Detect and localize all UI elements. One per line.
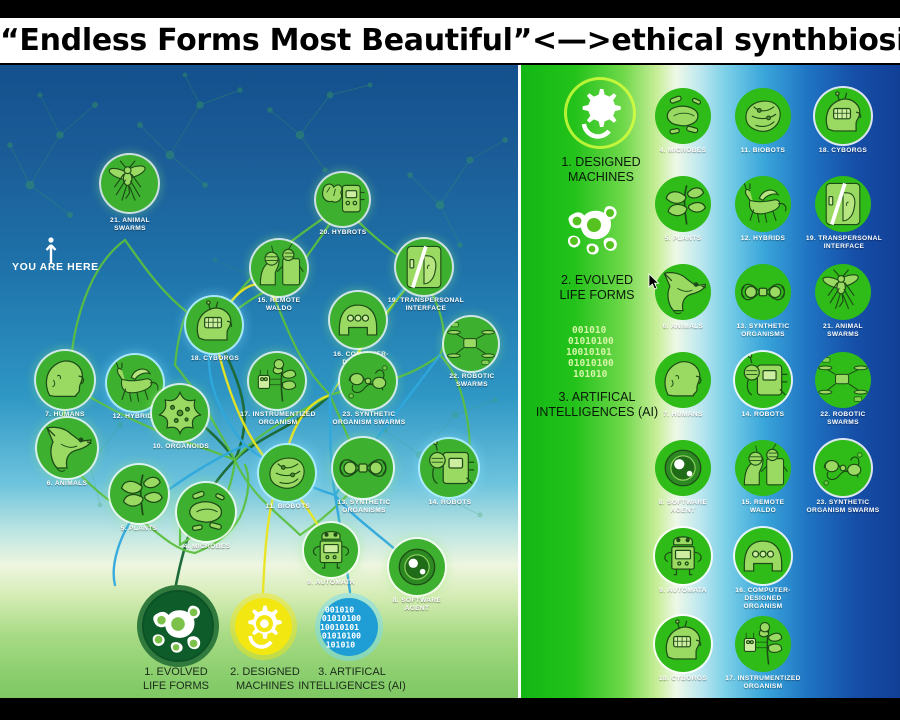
you-are-here-label: YOU ARE HERE (12, 261, 99, 273)
node-icon-circle (735, 88, 791, 144)
software-agent-icon (655, 440, 711, 496)
svg-text:01010100: 01010100 (568, 358, 614, 369)
node-icon-circle (251, 240, 307, 296)
biobot-icon (735, 88, 791, 144)
node-icon-circle (36, 351, 94, 409)
node-label: 5. PLANTS (649, 235, 717, 243)
synthetic-swarm-icon (815, 440, 871, 496)
node-icon-circle (655, 616, 711, 672)
node-icon-circle (815, 88, 871, 144)
svg-text:001010: 001010 (572, 325, 607, 336)
cyborg-head-icon (655, 616, 711, 672)
remote-waldo-icon (251, 240, 307, 296)
node-icon-circle (420, 439, 478, 497)
node-icon-circle (177, 483, 235, 541)
node-label: 6. ANIMALS (36, 480, 98, 488)
robot-icon (735, 352, 791, 408)
node-icon-circle (655, 352, 711, 408)
category-icon-circle (559, 192, 629, 262)
node-icon-circle (655, 88, 711, 144)
node-icon-circle (815, 176, 871, 232)
node-icon-circle (735, 264, 791, 320)
software-agent-icon (389, 539, 445, 595)
svg-text:01010100: 01010100 (568, 336, 614, 347)
node-icon-circle (444, 317, 498, 371)
drone-swarm-icon (815, 352, 871, 408)
human-head-icon (655, 352, 711, 408)
mosquito-icon (815, 264, 871, 320)
node-label: 17. INSTRUMENTIZEDORGANISM (715, 675, 811, 691)
node-icon-circle (735, 528, 791, 584)
gear-icon (235, 598, 292, 655)
plant-sensor-icon (735, 616, 791, 672)
node-icon-circle (735, 440, 791, 496)
remote-waldo-icon (735, 440, 791, 496)
node-label: 6. ANIMALS (647, 323, 719, 331)
binary-code-icon: 001010 01010100 10010101 01010100 101010 (567, 317, 631, 381)
node-label: 13. SYNTHETICORGANISMS (725, 323, 801, 339)
node-icon-circle (655, 176, 711, 232)
node-label: 21. ANIMALSWARMS (86, 217, 174, 233)
bacteria-icon (177, 483, 235, 541)
node-icon-circle (249, 353, 305, 409)
node-label: 18. CYBORGS (179, 355, 251, 363)
node-icon-circle (304, 523, 358, 577)
synthetic-organism-icon (735, 264, 791, 320)
node-label: 17. INSTRUMENTIZEDORGANISM (230, 411, 326, 427)
root-icon-circle: 001010 01010100 10010101 01010100 101010 (320, 598, 378, 656)
pegasus-icon (735, 176, 791, 232)
node-label: 19. TRANSPERSONALINTERFACE (380, 297, 472, 313)
svg-text:10010101: 10010101 (566, 347, 612, 358)
category-label: 1. DESIGNEDMACHINES (531, 155, 671, 185)
hybrot-icon (316, 173, 369, 226)
node-label: 9. AUTOMATA (645, 587, 721, 595)
screen-face-icon (815, 176, 871, 232)
node-label: 16. COMPUTER-DESIGNEDORGANISM (725, 587, 801, 612)
node-icon-circle (330, 292, 386, 348)
category-icon-circle: 001010 01010100 10010101 01010100 101010 (567, 317, 631, 381)
node-label: 19. TRANSPERSONALINTERFACE (799, 235, 889, 251)
node-label: 11. BIOBOTS (727, 147, 799, 155)
node-icon-circle (389, 539, 445, 595)
root-icon-circle (142, 590, 214, 662)
root-label: 1. EVOLVEDLIFE FORMS (126, 665, 226, 693)
node-label: 14. ROBOTS (418, 499, 482, 507)
node-label: 23. SYNTHETICORGANISM SWARMS (322, 411, 416, 427)
node-label: 11. BIOBOTS (255, 503, 321, 511)
page-title: “Endless Forms Most Beautiful”<—>ethical… (0, 18, 900, 63)
xenobot-icon (735, 528, 791, 584)
node-icon-circle (735, 616, 791, 672)
cells-gears-icon (559, 192, 629, 262)
node-icon-circle (655, 264, 711, 320)
node-icon-circle (316, 173, 369, 226)
organoid-icon (152, 385, 208, 441)
xenobot-icon (330, 292, 386, 348)
node-icon-circle (110, 465, 168, 523)
node-label: 22. ROBOTICSWARMS (440, 373, 504, 389)
synthetic-organism-icon (333, 438, 393, 498)
wolf-icon (655, 264, 711, 320)
robot-icon (420, 439, 478, 497)
node-icon-circle (735, 176, 791, 232)
node-label: 13. SYNTHETICORGANISMS (324, 499, 404, 515)
node-label: 5. PLANTS (106, 525, 172, 533)
node-label: 18. CYBORGS (805, 147, 881, 155)
node-label: 15. REMOTEWALDO (241, 297, 317, 313)
automaton-icon (655, 528, 711, 584)
node-label: 8. SOFTWAREAGENT (386, 597, 448, 613)
svg-text:101010: 101010 (573, 369, 608, 380)
node-label: 18. CYBORGS (645, 675, 721, 683)
node-icon-circle (815, 264, 871, 320)
node-icon-circle (396, 239, 452, 295)
node-label: 7. HUMANS (649, 411, 717, 419)
cells-gears-icon (144, 592, 212, 660)
node-icon-circle (655, 440, 711, 496)
node-label: 15. REMOTEWALDO (727, 499, 799, 515)
wolf-icon (37, 418, 97, 478)
evolutionary-tree-panel: YOU ARE HERE 21. ANIMALSWARMS (0, 65, 518, 698)
node-label: 23. SYNTHETICORGANISM SWARMS (795, 499, 891, 515)
cyborg-head-icon (815, 88, 871, 144)
root-icon-circle (235, 598, 292, 655)
node-icon-circle (101, 155, 158, 212)
node-icon-circle (152, 385, 208, 441)
plant-sensor-icon (249, 353, 305, 409)
automaton-icon (304, 523, 358, 577)
synthetic-swarm-icon (340, 353, 396, 409)
node-icon-circle (815, 440, 871, 496)
node-icon-circle (333, 438, 393, 498)
node-label: 4. MICROBES (172, 543, 242, 551)
node-icon-circle (259, 445, 315, 501)
node-label: 10. ORGANOIDS (145, 443, 217, 451)
legend-panel: 1. DESIGNEDMACHINES (521, 65, 900, 698)
bacteria-icon (655, 88, 711, 144)
node-label: 4. MICROBES (647, 147, 719, 155)
screenshot-root: “Endless Forms Most Beautiful”<—>ethical… (0, 0, 900, 720)
binary-code-icon: 001010 01010100 10010101 01010100 101010 (320, 598, 378, 656)
category-label: 2. EVOLVEDLIFE FORMS (527, 273, 667, 303)
node-label: 21. ANIMALSWARMS (807, 323, 879, 339)
leaf-icon (655, 176, 711, 232)
node-label: 20. HYBROTS (303, 229, 383, 237)
category-icon-circle (567, 80, 633, 146)
svg-text:101010: 101010 (326, 639, 355, 649)
node-icon-circle (37, 418, 97, 478)
gear-icon (567, 80, 633, 146)
screen-face-icon (396, 239, 452, 295)
mouse-pointer (648, 273, 660, 291)
node-icon-circle (340, 353, 396, 409)
title-bar: “Endless Forms Most Beautiful”<—>ethical… (0, 18, 900, 63)
node-icon-circle (815, 352, 871, 408)
node-label: 14. ROBOTS (729, 411, 797, 419)
root-label: 3. ARTIFICALINTELLIGENCES (AI) (296, 665, 408, 693)
mosquito-icon (101, 155, 158, 212)
cyborg-head-icon (186, 297, 242, 353)
node-icon-circle (186, 297, 242, 353)
node-label: 22. ROBOTICSWARMS (807, 411, 879, 427)
node-label: 9. AUTOMATA (295, 579, 367, 587)
biobot-icon (259, 445, 315, 501)
drone-swarm-icon (444, 317, 498, 371)
node-icon-circle (735, 352, 791, 408)
leaf-icon (110, 465, 168, 523)
node-icon-circle (655, 528, 711, 584)
node-label: 12. HYBRIDS (727, 235, 799, 243)
node-label: 8. SOFTWAREAGENT (645, 499, 721, 515)
human-head-icon (36, 351, 94, 409)
